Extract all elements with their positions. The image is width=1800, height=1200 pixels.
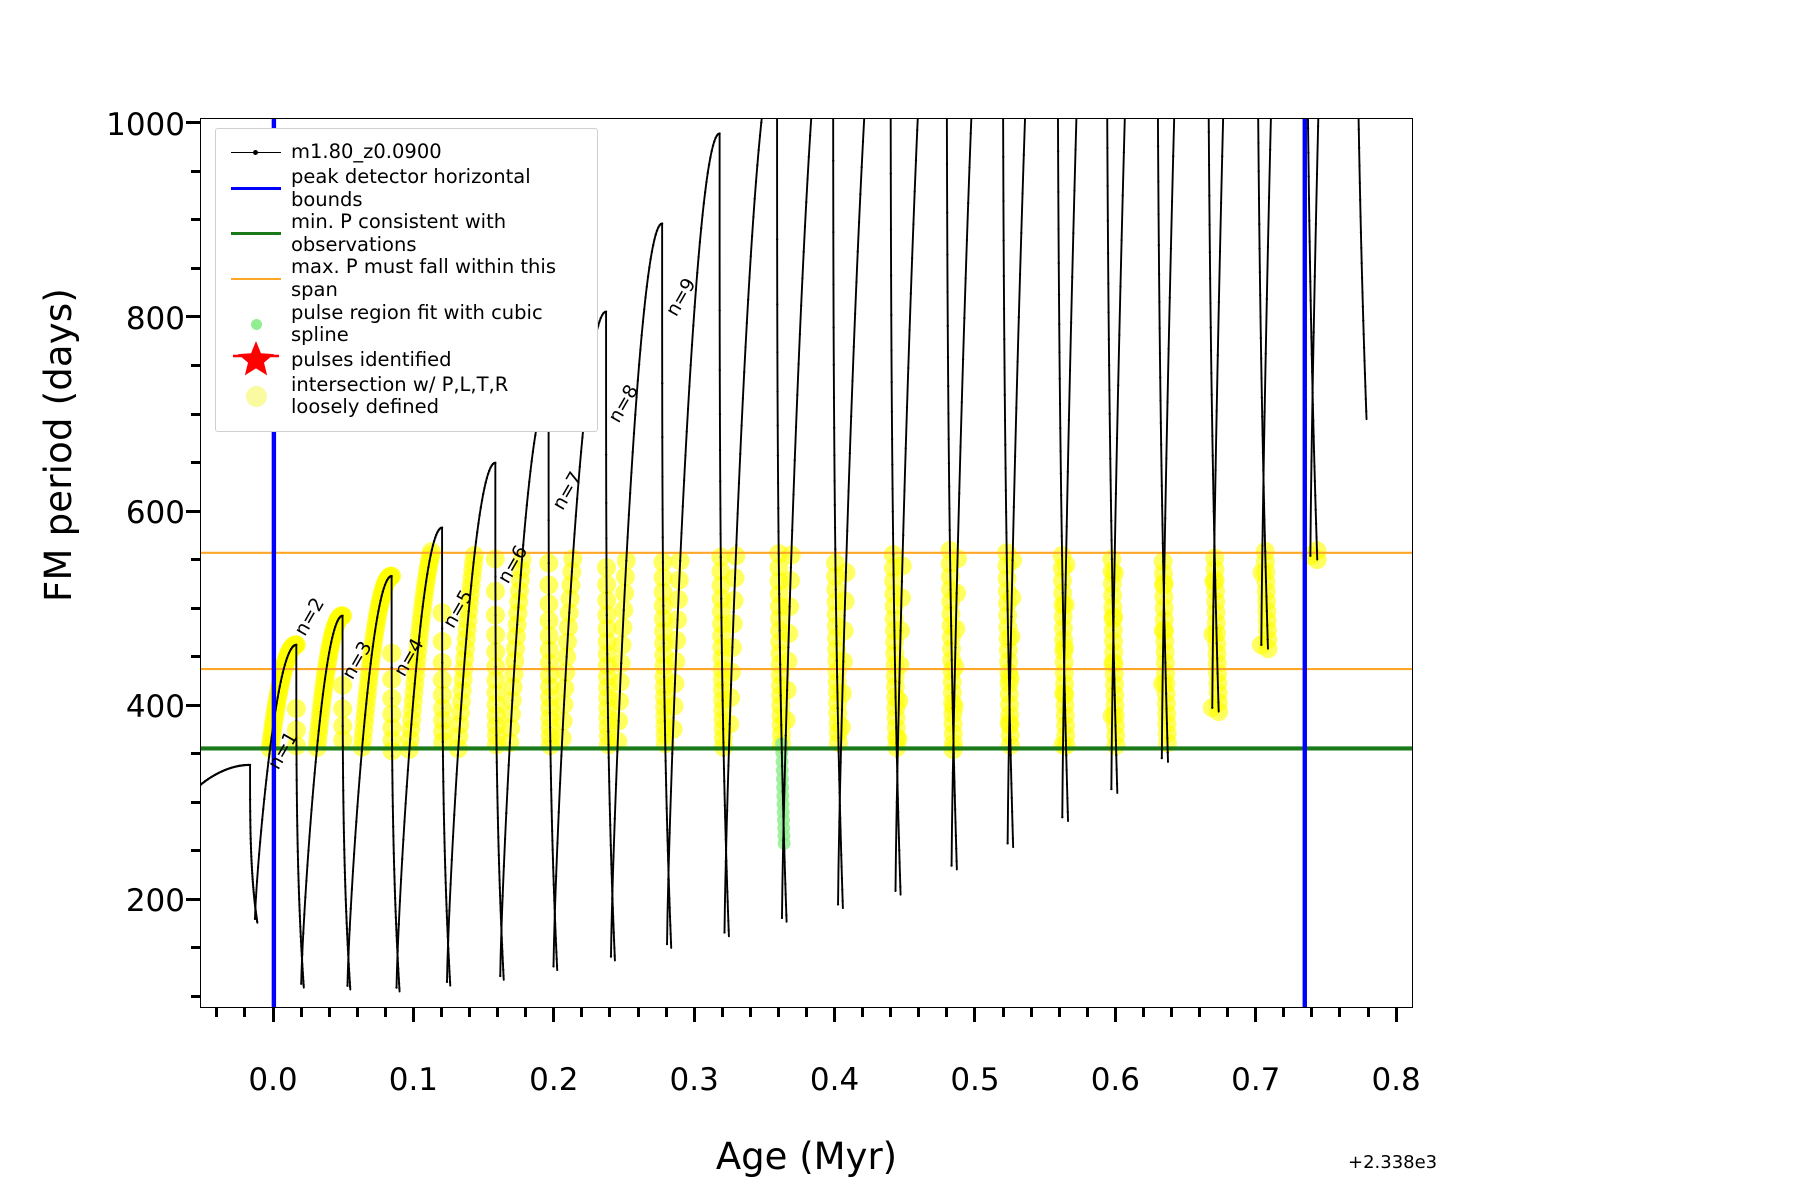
y-axis-label: FM period (days) xyxy=(37,0,80,890)
y-tick-minor xyxy=(191,995,200,998)
x-tick-major xyxy=(973,1008,976,1022)
x-tick-minor xyxy=(384,1008,387,1017)
y-tick-minor xyxy=(191,413,200,416)
y-tick-minor xyxy=(191,607,200,610)
x-tick-minor xyxy=(721,1008,724,1017)
x-tick-minor xyxy=(1170,1008,1173,1017)
cycle-label: n=7 xyxy=(548,468,587,514)
legend-entry-label: intersection w/ P,L,T,R loosely defined xyxy=(284,374,508,419)
x-tick-label: 0.3 xyxy=(634,1062,754,1098)
y-tick-minor xyxy=(191,752,200,755)
x-tick-label: 0.7 xyxy=(1196,1062,1316,1098)
x-tick-minor xyxy=(243,1008,246,1017)
y-tick-label: 400 xyxy=(65,689,185,725)
x-tick-minor xyxy=(1142,1008,1145,1017)
x-tick-minor xyxy=(1198,1008,1201,1017)
y-tick-label: 800 xyxy=(65,301,185,337)
legend-big-dot-icon xyxy=(228,384,284,408)
y-tick-major xyxy=(186,704,200,707)
legend-entry-label: pulses identified xyxy=(284,349,452,372)
x-tick-major xyxy=(1395,1008,1398,1022)
y-tick-minor xyxy=(191,801,200,804)
y-tick-major xyxy=(186,510,200,513)
x-tick-minor xyxy=(1002,1008,1005,1017)
legend-line-icon xyxy=(228,222,284,246)
legend-dot-icon xyxy=(228,312,284,336)
x-tick-major xyxy=(833,1008,836,1022)
x-tick-minor xyxy=(300,1008,303,1017)
x-tick-minor xyxy=(749,1008,752,1017)
x-tick-minor xyxy=(777,1008,780,1017)
legend-entry-label: min. P consistent with observations xyxy=(284,211,585,256)
x-tick-label: 0.8 xyxy=(1336,1062,1456,1098)
x-tick-major xyxy=(412,1008,415,1022)
x-tick-minor xyxy=(1086,1008,1089,1017)
x-tick-minor xyxy=(1338,1008,1341,1017)
x-tick-minor xyxy=(1030,1008,1033,1017)
x-tick-label: 0.6 xyxy=(1055,1062,1175,1098)
x-tick-minor xyxy=(861,1008,864,1017)
x-axis-label: Age (Myr) xyxy=(200,1135,1413,1178)
x-tick-minor xyxy=(1282,1008,1285,1017)
y-tick-minor xyxy=(191,946,200,949)
x-tick-minor xyxy=(1367,1008,1370,1017)
legend-entry-label: m1.80_z0.0900 xyxy=(284,141,442,164)
x-tick-minor xyxy=(215,1008,218,1017)
legend-entry: m1.80_z0.0900 xyxy=(228,139,585,166)
y-tick-minor xyxy=(191,558,200,561)
x-tick-minor xyxy=(665,1008,668,1017)
y-tick-minor xyxy=(191,461,200,464)
legend-entry: max. P must fall within this span xyxy=(228,256,585,301)
y-tick-minor xyxy=(191,170,200,173)
legend-entry-label: pulse region fit with cubic spline xyxy=(284,302,585,347)
x-tick-minor xyxy=(608,1008,611,1017)
x-tick-minor xyxy=(328,1008,331,1017)
x-tick-minor xyxy=(356,1008,359,1017)
y-tick-label: 1000 xyxy=(65,107,185,143)
x-tick-major xyxy=(1114,1008,1117,1022)
x-tick-major xyxy=(693,1008,696,1022)
y-tick-label: 200 xyxy=(65,883,185,919)
figure-canvas: n=1n=2n=3n=4n=5n=6n=7n=8n=9 m1.80_z0.090… xyxy=(0,0,1800,1200)
x-tick-label: 0.4 xyxy=(775,1062,895,1098)
legend-entry-label: max. P must fall within this span xyxy=(284,256,585,301)
legend-entry: min. P consistent with observations xyxy=(228,211,585,256)
x-tick-minor xyxy=(1226,1008,1229,1017)
legend-entry: intersection w/ P,L,T,R loosely defined xyxy=(228,374,585,419)
legend-entry: peak detector horizontal bounds xyxy=(228,166,585,211)
y-tick-major xyxy=(186,898,200,901)
legend-thin-line-icon xyxy=(228,267,284,291)
x-axis-offset-text: +2.338e3 xyxy=(1348,1152,1437,1173)
x-tick-minor xyxy=(440,1008,443,1017)
x-tick-minor xyxy=(805,1008,808,1017)
x-tick-minor xyxy=(945,1008,948,1017)
x-tick-minor xyxy=(917,1008,920,1017)
x-tick-major xyxy=(1254,1008,1257,1022)
x-tick-minor xyxy=(580,1008,583,1017)
y-tick-minor xyxy=(191,267,200,270)
legend-line-icon xyxy=(228,177,284,201)
x-tick-minor xyxy=(524,1008,527,1017)
x-tick-minor xyxy=(889,1008,892,1017)
x-tick-label: 0.0 xyxy=(213,1062,333,1098)
y-tick-label: 600 xyxy=(65,495,185,531)
cycle-label: n=2 xyxy=(290,594,329,640)
legend-entry: pulse region fit with cubic spline xyxy=(228,302,585,347)
x-tick-label: 0.1 xyxy=(353,1062,473,1098)
x-tick-minor xyxy=(1058,1008,1061,1017)
y-tick-minor xyxy=(191,849,200,852)
y-tick-major xyxy=(186,121,200,124)
legend-entry-label: peak detector horizontal bounds xyxy=(284,166,585,211)
x-tick-minor xyxy=(637,1008,640,1017)
x-tick-label: 0.2 xyxy=(494,1062,614,1098)
y-tick-minor xyxy=(191,655,200,658)
y-tick-minor xyxy=(191,364,200,367)
legend-line-marker-icon xyxy=(228,141,284,165)
x-tick-label: 0.5 xyxy=(915,1062,1035,1098)
x-tick-major xyxy=(272,1008,275,1022)
x-tick-minor xyxy=(1310,1008,1313,1017)
legend-star-icon xyxy=(228,348,284,372)
legend-box: m1.80_z0.0900peak detector horizontal bo… xyxy=(215,128,598,432)
x-tick-minor xyxy=(496,1008,499,1017)
y-tick-major xyxy=(186,315,200,318)
x-tick-major xyxy=(552,1008,555,1022)
legend-entry: pulses identified xyxy=(228,347,585,374)
y-tick-minor xyxy=(191,218,200,221)
x-tick-minor xyxy=(468,1008,471,1017)
